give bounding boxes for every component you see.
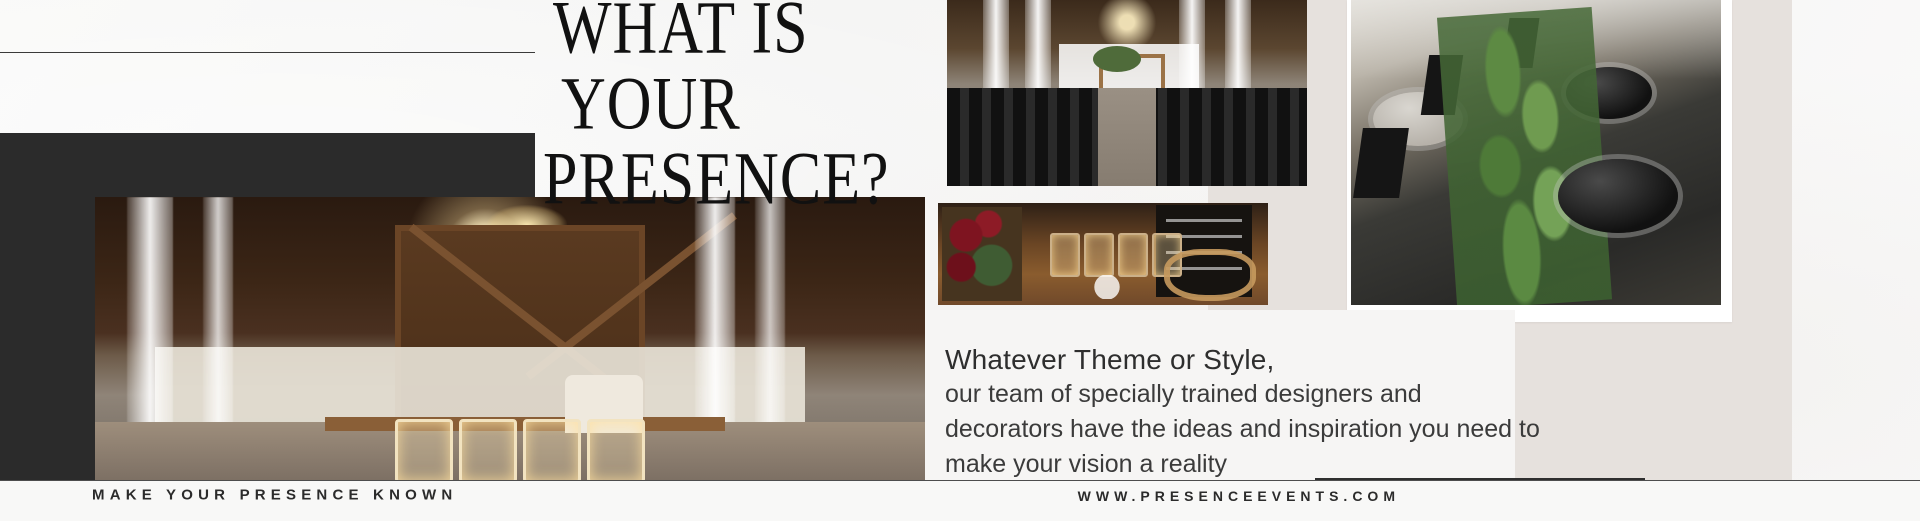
photo-barn-reception <box>95 197 925 480</box>
red-floral-arrangement <box>942 207 1022 301</box>
headline-line-2: YOUR <box>561 70 903 140</box>
photo-ceremony-aisle <box>947 0 1307 186</box>
top-divider-rule <box>0 52 535 53</box>
body-copy-line-4: make your vision a reality <box>945 447 1665 482</box>
monogram-w <box>1090 275 1124 299</box>
footer-tagline: MAKE YOUR PRESENCE KNOWN <box>92 487 457 504</box>
headline-line-1: WHAT IS <box>553 0 903 64</box>
footer-website[interactable]: WWW.PRESENCEEVENTS.COM <box>1078 488 1400 504</box>
headline-line-3: PRESENCE? <box>543 145 903 215</box>
body-copy: Whatever Theme or Style, our team of spe… <box>945 342 1665 482</box>
banner-stage: WHAT IS YOUR PRESENCE? Whatever Theme or… <box>0 0 1920 521</box>
photo-guestbook-table <box>938 203 1268 305</box>
body-copy-line-2: our team of specially trained designers … <box>945 377 1665 412</box>
napkin-front <box>1353 128 1409 198</box>
marquee-love-letters-small <box>1050 233 1182 277</box>
body-copy-lead: Whatever Theme or Style, <box>945 342 1665 377</box>
page-title: WHAT IS YOUR PRESENCE? <box>543 0 903 203</box>
footer-divider-rule <box>0 480 1920 481</box>
photo-table-setting <box>1351 0 1721 305</box>
body-copy-line-3: decorators have the ideas and inspiratio… <box>945 412 1665 447</box>
charger-plate-front <box>1558 159 1678 233</box>
wooden-love-script <box>1164 249 1256 301</box>
eucalyptus-garland-runner <box>1437 7 1612 305</box>
marquee-love-letters <box>395 419 645 480</box>
arch-florals <box>1093 46 1141 72</box>
ceremony-chairs <box>947 88 1307 186</box>
